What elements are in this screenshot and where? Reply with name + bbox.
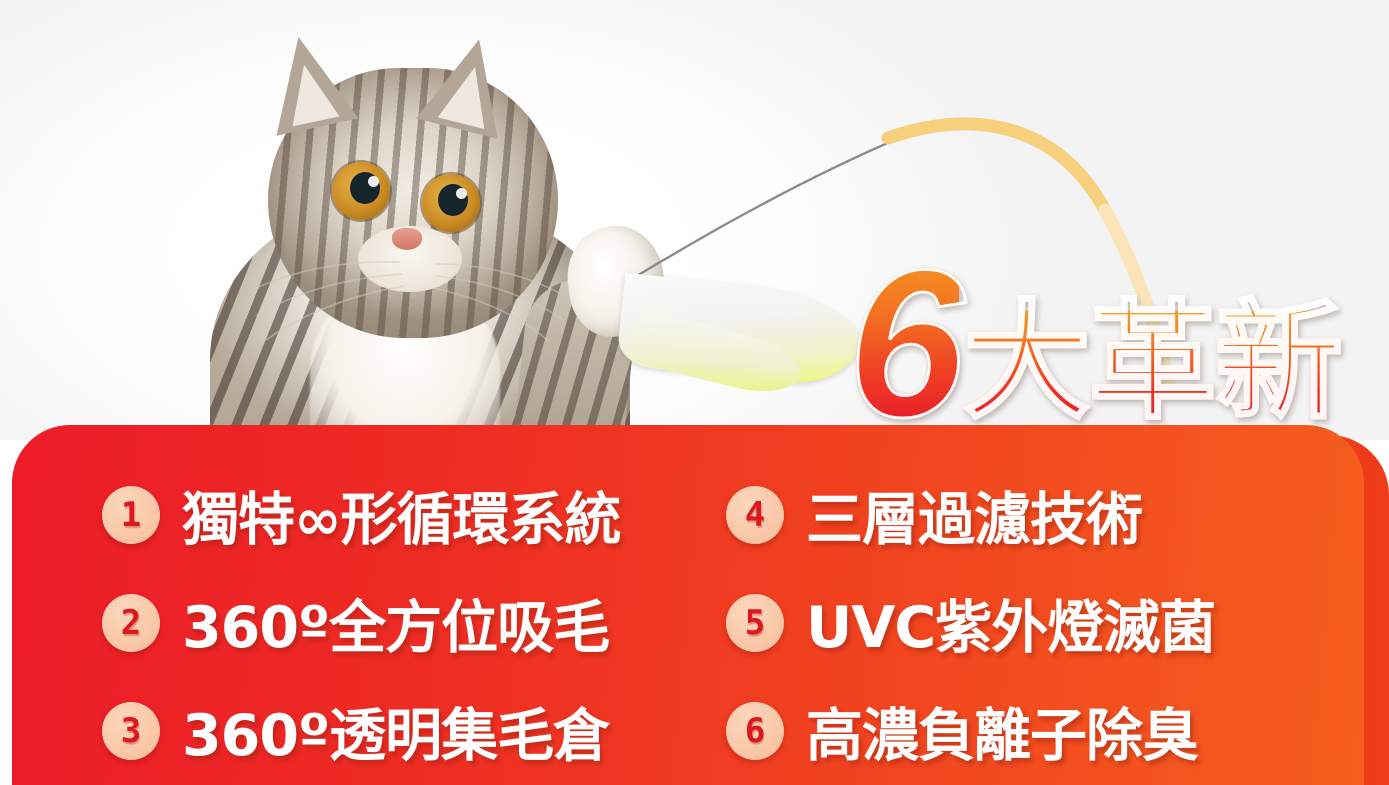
feature-badge-2: 2 <box>102 594 160 652</box>
cat-eye-glint-right <box>456 188 467 199</box>
headline-number: 6 <box>848 258 959 430</box>
feature-item-2[interactable]: 2 360º全方位吸毛 <box>12 582 688 664</box>
features-list: 1 獨特∞形循環系統 4 三層過濾技術 2 360º全方位吸毛 5 UVC紫外燈… <box>12 425 1364 785</box>
feature-item-3[interactable]: 3 360º透明集毛倉 <box>12 690 688 772</box>
feature-item-6[interactable]: 6 高濃負離子除臭 <box>688 690 1364 772</box>
feature-label-6: 高濃負離子除臭 <box>806 690 1198 772</box>
cat-whiskers-icon <box>250 220 570 350</box>
feature-label-1: 獨特∞形循環系統 <box>182 474 620 556</box>
headline-text: 大革新 <box>963 311 1341 430</box>
feature-badge-6: 6 <box>726 702 784 760</box>
feature-label-2: 360º全方位吸毛 <box>182 582 609 664</box>
feature-badge-4: 4 <box>726 486 784 544</box>
promo-banner: 6 大革新 1 獨特∞形循環系統 4 三層過濾技術 2 360º全方位吸毛 5 … <box>0 0 1389 785</box>
feature-badge-1: 1 <box>102 486 160 544</box>
cat-eye-glint-left <box>368 176 379 187</box>
feature-badge-5: 5 <box>726 594 784 652</box>
feature-label-4: 三層過濾技術 <box>806 474 1142 556</box>
feature-item-1[interactable]: 1 獨特∞形循環系統 <box>12 474 688 556</box>
feature-item-4[interactable]: 4 三層過濾技術 <box>688 474 1364 556</box>
page-title: 6 大革新 <box>848 258 1341 430</box>
feature-label-5: UVC紫外燈滅菌 <box>806 582 1215 664</box>
feature-label-3: 360º透明集毛倉 <box>182 690 609 772</box>
feature-item-5[interactable]: 5 UVC紫外燈滅菌 <box>688 582 1364 664</box>
feature-badge-3: 3 <box>102 702 160 760</box>
